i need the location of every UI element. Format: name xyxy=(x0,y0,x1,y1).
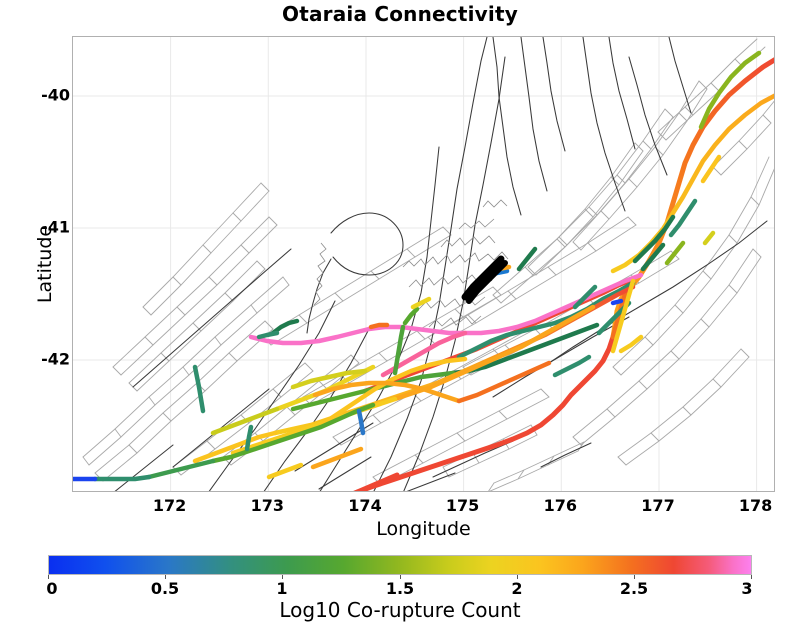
xtick-172: 172 xyxy=(153,496,186,515)
figure-canvas: Otaraia Connectivity xyxy=(0,0,800,637)
ytick-minus40: -40 xyxy=(41,86,70,105)
colorbar-label-2: 2 xyxy=(511,579,522,598)
colorbar-axis-label: Log10 Co-rupture Count xyxy=(48,598,752,622)
colorbar: 0 0.5 1 1.5 2 2.5 3 xyxy=(48,555,752,575)
page-title: Otaraia Connectivity xyxy=(0,2,800,26)
colorbar-label-1p5: 1.5 xyxy=(386,579,414,598)
xtick-175: 175 xyxy=(446,496,479,515)
colorbar-label-0: 0 xyxy=(46,579,57,598)
y-axis-label: Latitude xyxy=(34,164,56,364)
colorbar-label-1: 1 xyxy=(276,579,287,598)
colorbar-label-3: 3 xyxy=(741,579,752,598)
xtick-176: 176 xyxy=(544,496,577,515)
colorbar-label-2p5: 2.5 xyxy=(620,579,648,598)
fault-map xyxy=(73,37,775,492)
colorbar-gradient xyxy=(48,555,752,575)
xtick-173: 173 xyxy=(251,496,284,515)
background-fault-traces xyxy=(83,39,775,492)
xtick-178: 178 xyxy=(739,496,772,515)
major-fault-outlines xyxy=(113,37,767,492)
highlighted-fault-otaraia xyxy=(465,259,505,301)
xtick-174: 174 xyxy=(348,496,381,515)
map-axes[interactable] xyxy=(72,36,775,492)
x-axis-label: Longitude xyxy=(72,518,775,540)
colorbar-label-0p5: 0.5 xyxy=(151,579,179,598)
xtick-177: 177 xyxy=(641,496,674,515)
